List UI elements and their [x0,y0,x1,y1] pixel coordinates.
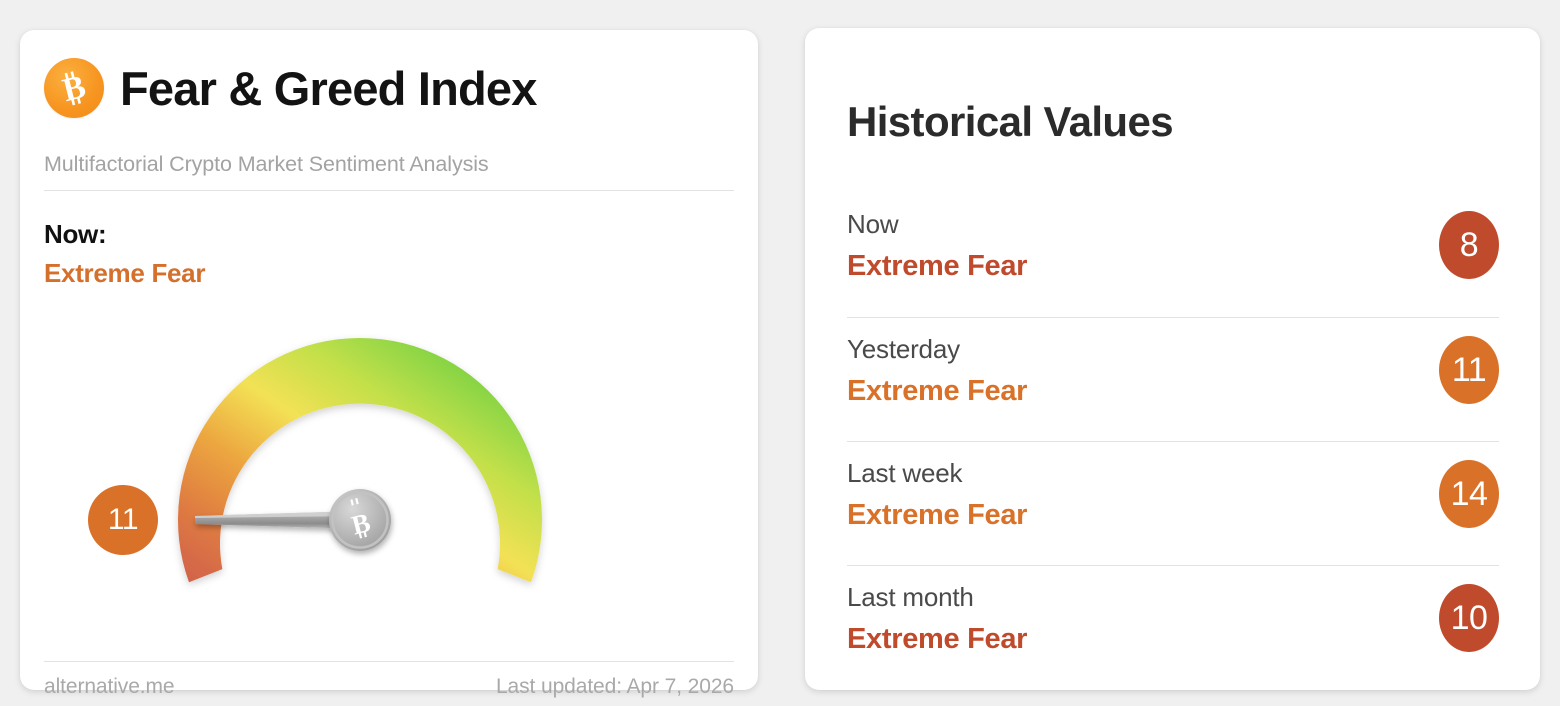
fear-greed-gauge-card: B Fear & Greed Index Multifactorial Cryp… [20,30,758,690]
last-updated-label: Last updated: Apr 7, 2026 [496,675,734,699]
history-title: Historical Values [847,98,1173,146]
source-label: alternative.me [44,675,175,699]
list-item: Last week Extreme Fear 14 [847,441,1499,565]
history-classification-label: Extreme Fear [847,250,1027,283]
history-classification-label: Extreme Fear [847,499,1027,532]
bitcoin-icon: B [44,58,104,118]
historical-values-card: Historical Values Now Extreme Fear 8 Yes… [805,28,1540,690]
list-item: Yesterday Extreme Fear 11 [847,317,1499,441]
history-list: Now Extreme Fear 8 Yesterday Extreme Fea… [847,193,1499,689]
header-divider [44,190,734,191]
list-item: Now Extreme Fear 8 [847,193,1499,317]
history-period-label: Yesterday [847,334,960,365]
gauge-card-header: B Fear & Greed Index [44,58,734,118]
history-value-badge: 8 [1439,211,1499,279]
list-item: Last month Extreme Fear 10 [847,565,1499,689]
history-value-badge: 10 [1439,584,1499,652]
history-period-label: Last month [847,582,974,613]
history-classification-label: Extreme Fear [847,623,1027,656]
footer-divider [44,661,734,662]
gauge-value-badge: 11 [88,485,158,555]
page-subtitle: Multifactorial Crypto Market Sentiment A… [44,152,489,177]
history-classification-label: Extreme Fear [847,375,1027,408]
page-root: B Fear & Greed Index Multifactorial Cryp… [0,0,1560,706]
now-label: Now: [44,219,106,250]
page-title: Fear & Greed Index [120,65,537,112]
history-period-label: Now [847,209,898,240]
gauge-needle-hub: B [329,489,391,551]
history-value-badge: 11 [1439,336,1499,404]
history-period-label: Last week [847,458,962,489]
gauge-chart: B [80,280,700,650]
history-value-badge: 14 [1439,460,1499,528]
